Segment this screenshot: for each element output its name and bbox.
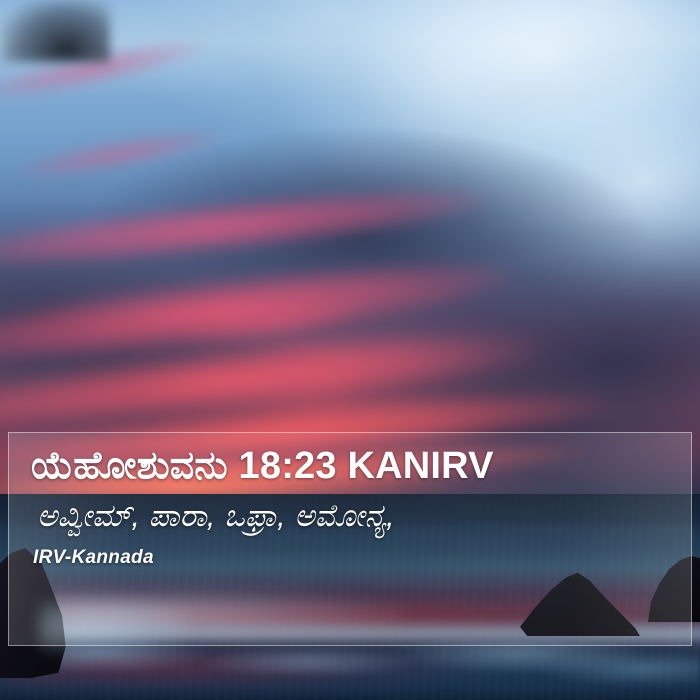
verse-reference: ಯೆಹೋಶುವನು 18:23 KANIRV [31, 447, 673, 487]
verse-image-canvas: ಯೆಹೋಶುವನು 18:23 KANIRV ಅವ್ವೀಮ್, ಪಾರಾ, ಒಫ… [0, 0, 700, 700]
rock-shadow-right [0, 0, 110, 62]
verse-text: ಅವ್ವೀಮ್, ಪಾರಾ, ಒಫ್ರಾ, ಅಮೋನ್ಯ, [37, 499, 673, 534]
bible-version-label: IRV-Kannada [33, 547, 673, 569]
verse-banner: ಯೆಹೋಶುವನು 18:23 KANIRV ಅವ್ವೀಮ್, ಪಾರಾ, ಒಫ… [8, 432, 692, 646]
verse-banner-content: ಯೆಹೋಶುವನು 18:23 KANIRV ಅವ್ವೀಮ್, ಪಾರಾ, ಒಫ… [31, 447, 673, 645]
